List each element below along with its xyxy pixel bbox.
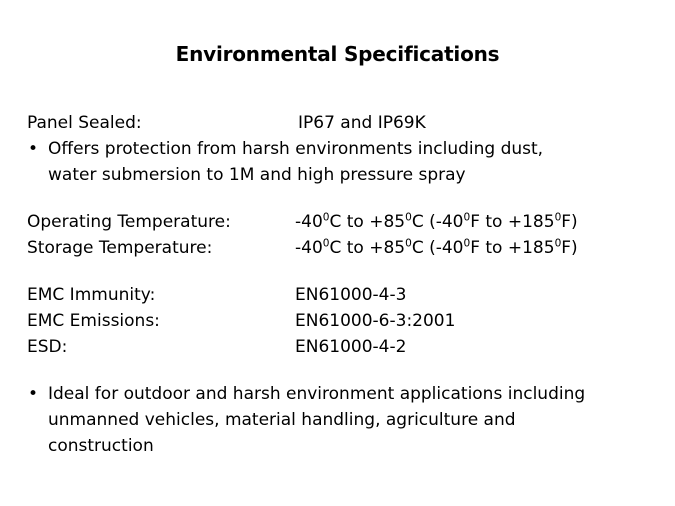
emc-immunity-label: EMC Immunity: [27,282,295,308]
slide-body: Panel Sealed: IP67 and IP69K • Offers pr… [27,110,657,459]
emc-block: EMC Immunity: EN61000-4-3 EMC Emissions:… [27,282,657,360]
emc-emissions-label: EMC Emissions: [27,308,295,334]
list-item: • Ideal for outdoor and harsh environmen… [27,381,673,459]
panel-sealed-block: Panel Sealed: IP67 and IP69K • Offers pr… [27,110,657,188]
storage-temperature-value: -400C to +850C (-400F to +1850F) [295,235,578,261]
temperature-block: Operating Temperature: -400C to +850C (-… [27,209,657,261]
esd-label: ESD: [27,334,295,360]
list-item: • Offers protection from harsh environme… [27,136,673,188]
applications-line-3: construction [48,433,673,459]
slide-root: Environmental Specifications Panel Seale… [0,0,675,506]
emc-emissions-value: EN61000-6-3:2001 [295,308,455,334]
spec-row: Operating Temperature: -400C to +850C (-… [27,209,657,235]
emc-immunity-value: EN61000-4-3 [295,282,406,308]
st-temp-part-5: F) [561,238,577,258]
spec-row: EMC Emissions: EN61000-6-3:2001 [27,308,657,334]
op-temp-part-1: -40 [295,212,323,232]
st-temp-part-3: C (-40 [412,238,464,258]
applications-line-2: unmanned vehicles, material handling, ag… [48,407,673,433]
spec-row: EMC Immunity: EN61000-4-3 [27,282,657,308]
bullet-icon: • [28,381,38,407]
page-title: Environmental Specifications [0,42,675,66]
bullet-icon: • [28,136,38,162]
st-temp-part-4: F to +185 [470,238,554,258]
panel-sealed-label: Panel Sealed: [27,110,298,136]
degree-symbol: 0 [405,211,412,223]
esd-value: EN61000-4-2 [295,334,406,360]
st-temp-part-1: -40 [295,238,323,258]
operating-temperature-value: -400C to +850C (-400F to +1850F) [295,209,578,235]
storage-temperature-label: Storage Temperature: [27,235,295,261]
operating-temperature-label: Operating Temperature: [27,209,295,235]
sealing-bullet-line-2: water submersion to 1M and high pressure… [48,162,673,188]
panel-sealed-value: IP67 and IP69K [298,110,426,136]
st-temp-part-2: C to +85 [329,238,405,258]
applications-line-1: Ideal for outdoor and harsh environment … [48,381,673,407]
op-temp-part-5: F) [561,212,577,232]
spec-row: Storage Temperature: -400C to +850C (-40… [27,235,657,261]
spec-row: ESD: EN61000-4-2 [27,334,657,360]
op-temp-part-3: C (-40 [412,212,464,232]
op-temp-part-2: C to +85 [329,212,405,232]
op-temp-part-4: F to +185 [470,212,554,232]
degree-symbol: 0 [405,237,412,249]
applications-block: • Ideal for outdoor and harsh environmen… [27,381,657,459]
spec-row: Panel Sealed: IP67 and IP69K [27,110,657,136]
sealing-bullet-line-1: Offers protection from harsh environment… [48,136,673,162]
